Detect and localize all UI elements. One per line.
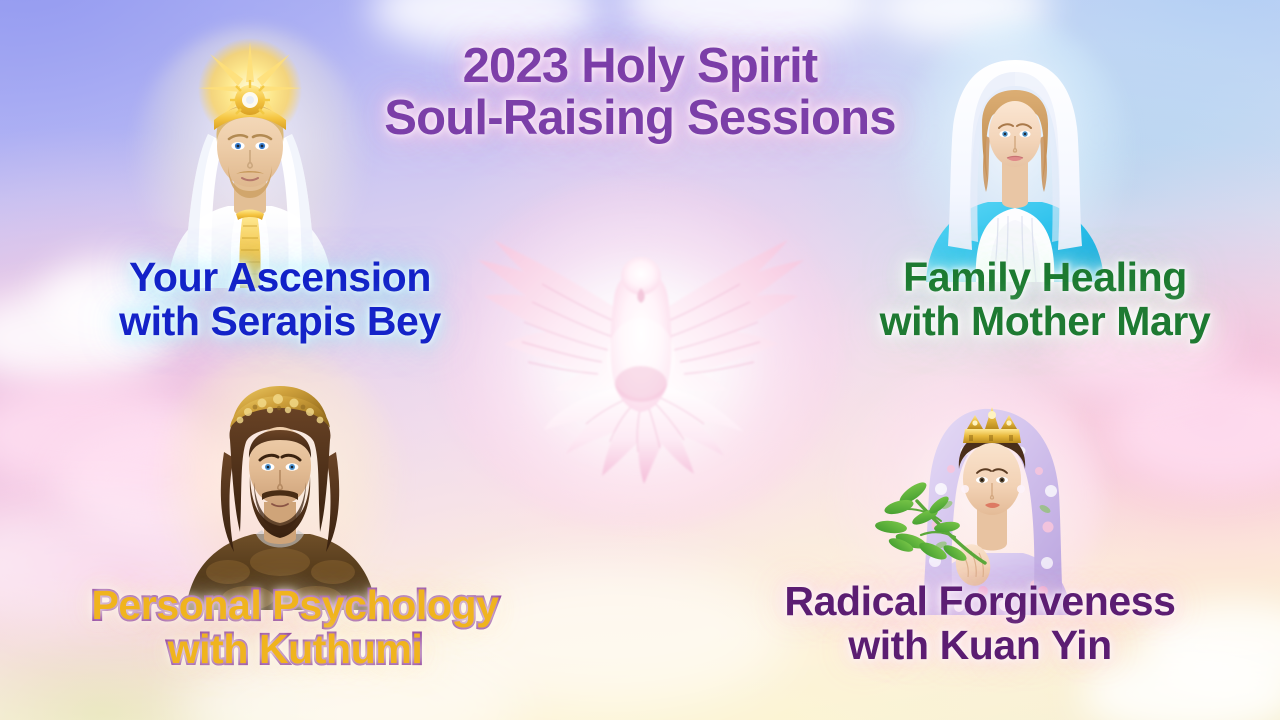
session-label-mother-mary[interactable]: Family Healing with Mother Mary <box>830 256 1260 344</box>
session-label-serapis-bey[interactable]: Your Ascension with Serapis Bey <box>60 256 500 344</box>
kuthumi-svg <box>178 362 383 610</box>
session-label-kuan-yin[interactable]: Radical Forgiveness with Kuan Yin <box>730 580 1230 668</box>
dove-icon <box>466 208 816 500</box>
kuthumi-portrait <box>178 362 383 610</box>
dove-svg <box>466 208 816 500</box>
session-label-kuthumi[interactable]: Personal Psychology with Kuthumi <box>45 584 545 672</box>
page-title: 2023 Holy Spirit Soul-Raising Sessions <box>0 40 1280 145</box>
poster-canvas: 2023 Holy Spirit Soul-Raising Sessions Y… <box>0 0 1280 720</box>
